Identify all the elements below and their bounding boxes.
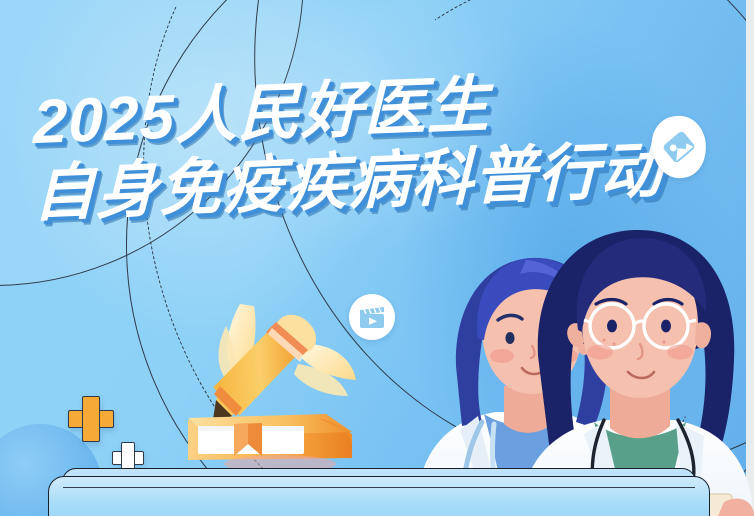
bottom-card <box>48 476 710 516</box>
plus-orange-icon <box>68 396 112 440</box>
video-badge[interactable] <box>349 294 395 340</box>
video-clapperboard-icon <box>358 304 386 330</box>
poster-banner: 2025人民好医生 自身免疫疾病科普行动 <box>0 0 754 516</box>
open-book-icon <box>188 414 352 460</box>
pencil-and-book-illustration <box>176 292 366 472</box>
poster-title: 2025人民好医生 自身免疫疾病科普行动 <box>33 68 663 226</box>
winged-pencil-icon <box>209 304 356 426</box>
image-photo-icon <box>660 128 698 166</box>
